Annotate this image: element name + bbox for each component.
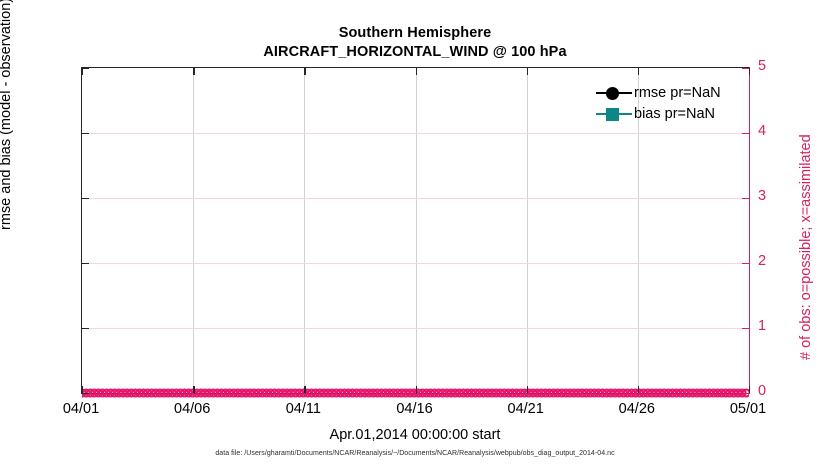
x-axis-tick-label: 04/01 [46, 402, 116, 417]
x-axis-tick [82, 386, 83, 393]
x-axis-tick-label: 04/11 [268, 402, 338, 417]
x-axis-tick-top [193, 68, 194, 75]
chart-title-variable: AIRCRAFT_HORIZONTAL_WIND @ 100 hPa [0, 43, 830, 62]
x-axis-tick-top [416, 68, 417, 75]
x-axis-tick-label: 04/16 [380, 402, 450, 417]
y-gridline [82, 198, 749, 199]
y-axis-left-title: rmse and bias (model - observation) [0, 0, 14, 230]
chart-title-region: Southern Hemisphere [0, 24, 830, 43]
y-axis-right-tick-label: 2 [758, 254, 766, 269]
x-axis-tick-top [749, 68, 750, 75]
legend-marker-circle-icon [596, 86, 632, 100]
y-axis-left-tick [82, 198, 89, 199]
y-axis-left-tick [82, 328, 89, 329]
y-axis-left-tick [82, 68, 89, 69]
chart-legend: rmse pr=NaNbias pr=NaN [596, 82, 746, 124]
y-axis-right-tick [742, 68, 749, 69]
y-axis-right-tick-label: 3 [758, 189, 766, 204]
x-axis-tick-top [638, 68, 639, 75]
legend-entry: bias pr=NaN [596, 103, 746, 124]
y-axis-right-tick-label: 0 [758, 384, 766, 399]
y-gridline [82, 328, 749, 329]
x-axis-tick [416, 386, 417, 393]
y-axis-left-tick [82, 393, 89, 394]
x-axis-tick-label: 05/01 [713, 402, 783, 417]
y-axis-right-tick [742, 393, 749, 394]
y-axis-left-tick [82, 133, 89, 134]
legend-glyph-circle-icon [606, 87, 619, 100]
y-axis-right-tick-label: 1 [758, 319, 766, 334]
x-gridline [193, 68, 194, 393]
y-axis-right-tick-label: 5 [758, 59, 766, 74]
x-axis-tick-top [304, 68, 305, 75]
x-gridline [304, 68, 305, 393]
x-gridline [527, 68, 528, 393]
legend-label: bias pr=NaN [632, 106, 715, 122]
y-axis-left-tick [82, 263, 89, 264]
y-gridline [82, 263, 749, 264]
x-axis-tick-label: 04/06 [157, 402, 227, 417]
y-axis-right-tick-label: 4 [758, 124, 766, 139]
x-axis-tick [193, 386, 194, 393]
x-axis-tick [749, 386, 750, 393]
legend-marker-square-icon [596, 107, 632, 121]
x-axis-title: Apr.01,2014 00:00:00 start [0, 427, 830, 443]
x-axis-tick-top [527, 68, 528, 75]
data-file-note: data file: /Users/gharamti/Documents/NCA… [0, 450, 830, 457]
y-axis-right-tick [742, 198, 749, 199]
x-axis-tick [638, 386, 639, 393]
y-axis-right-tick [742, 133, 749, 134]
y-axis-right-tick [742, 263, 749, 264]
x-axis-tick-label: 04/21 [491, 402, 561, 417]
x-gridline [416, 68, 417, 393]
y-gridline [82, 133, 749, 134]
legend-entry: rmse pr=NaN [596, 82, 746, 103]
y-axis-right-title: # of obs: o=possible; x=assimilated [798, 134, 814, 360]
legend-glyph-square-icon [606, 108, 619, 121]
x-axis-tick [527, 386, 528, 393]
chart-title-block: Southern Hemisphere AIRCRAFT_HORIZONTAL_… [0, 24, 830, 62]
y-axis-right-tick [742, 328, 749, 329]
x-axis-tick [304, 386, 305, 393]
legend-label: rmse pr=NaN [632, 85, 721, 101]
x-axis-tick-label: 04/26 [602, 402, 672, 417]
